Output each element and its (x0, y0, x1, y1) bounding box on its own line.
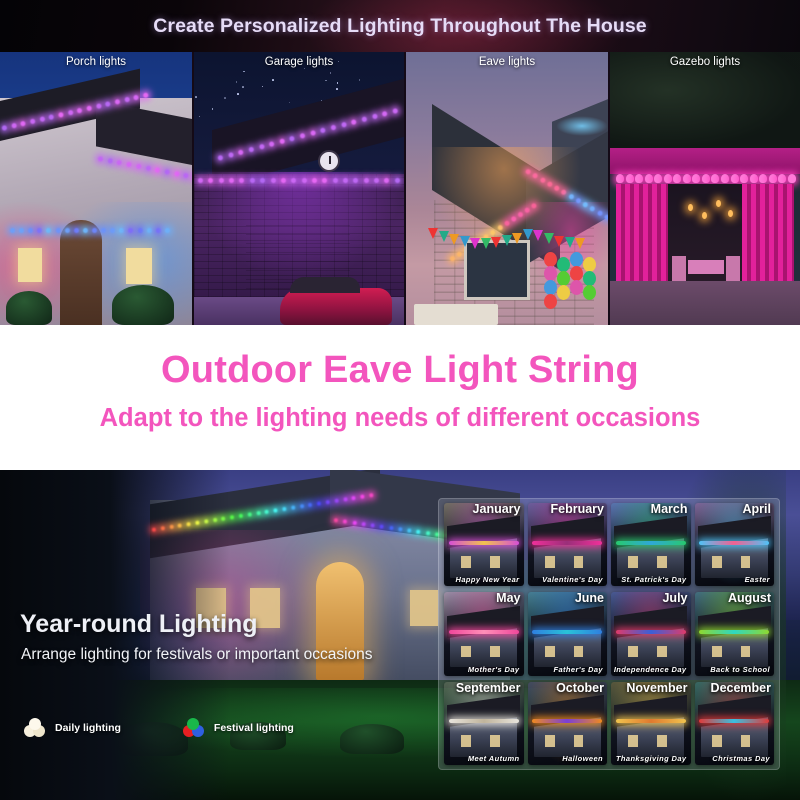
pendant-bulb (716, 200, 721, 207)
legend-label: Daily lighting (55, 722, 121, 734)
calendar-month-label: April (743, 503, 771, 516)
led-strip-eave (198, 178, 400, 183)
panel-label-garage-lights: Garage lights (194, 56, 404, 68)
mini-window (461, 556, 471, 568)
patio-table (688, 260, 724, 274)
three-circles-warm-white-icon (24, 718, 46, 738)
panel-label-gazebo-lights: Gazebo lights (610, 56, 800, 68)
mini-window (741, 735, 751, 747)
mini-window (461, 735, 471, 747)
mini-window (461, 646, 471, 658)
header-banner: Create Personalized Lighting Throughout … (0, 0, 800, 52)
mini-window (628, 735, 638, 747)
patio-table (414, 304, 498, 325)
calendar-holiday-label: Mother's Day (468, 665, 520, 674)
hero-subheadline: Arrange lighting for festivals or import… (21, 646, 373, 664)
calendar-cell-october[interactable]: OctoberHalloween (528, 682, 608, 765)
legend-item-daily-lighting: Daily lighting (24, 718, 121, 738)
calendar-holiday-label: Valentine's Day (542, 575, 603, 584)
mini-house-led-strip (532, 719, 602, 723)
pendant-bulb (728, 210, 733, 217)
calendar-month-label: June (575, 592, 604, 605)
mini-window (545, 735, 555, 747)
calendar-holiday-label: Happy New Year (456, 575, 520, 584)
mini-window (741, 646, 751, 658)
mini-window (657, 735, 667, 747)
led-strip-gazebo (616, 174, 796, 184)
mini-window (574, 556, 584, 568)
lighting-mode-legend: Daily lighting Festival lighting (24, 718, 294, 738)
calendar-cell-february[interactable]: FebruaryValentine's Day (528, 503, 608, 586)
chair (726, 256, 740, 282)
product-title-block: Outdoor Eave Light String Adapt to the l… (0, 325, 800, 470)
scene-panel-garage-lights: Garage lights (192, 52, 404, 325)
mini-window (574, 735, 584, 747)
calendar-cell-september[interactable]: SeptemberMeet Autumn (444, 682, 524, 765)
calendar-holiday-label: Easter (745, 575, 770, 584)
calendar-holiday-label: Father's Day (553, 665, 603, 674)
product-tagline: Adapt to the lighting needs of different… (0, 404, 800, 433)
mini-house-led-strip (699, 719, 769, 723)
calendar-month-label: July (662, 592, 687, 605)
car (280, 288, 392, 325)
calendar-month-label: November (626, 682, 687, 695)
mini-house-led-strip (616, 541, 686, 545)
calendar-cell-may[interactable]: MayMother's Day (444, 592, 524, 675)
calendar-month-label: August (728, 592, 771, 605)
product-name: Outdoor Eave Light String (0, 349, 800, 392)
calendar-month-label: September (456, 682, 521, 695)
scene-panel-eave-lights: Eave lights (404, 52, 608, 325)
calendar-month-label: October (556, 682, 604, 695)
scene-panel-strip: Porch lights Garage lights (0, 52, 800, 325)
calendar-cell-april[interactable]: AprilEaster (695, 503, 775, 586)
bunting-flags (428, 228, 588, 250)
window (18, 248, 42, 282)
scene-panel-gazebo-lights: Gazebo lights (608, 52, 800, 325)
calendar-month-label: May (496, 592, 520, 605)
front-door (60, 220, 102, 325)
mini-window (490, 556, 500, 568)
calendar-cell-march[interactable]: MarchSt. Patrick's Day (611, 503, 691, 586)
calendar-cell-june[interactable]: JuneFather's Day (528, 592, 608, 675)
window (126, 248, 152, 284)
calendar-month-label: March (651, 503, 688, 516)
three-circles-rgb-icon (183, 718, 205, 738)
mini-window (712, 646, 722, 658)
balloons (536, 252, 596, 312)
calendar-cell-july[interactable]: JulyIndependence Day (611, 592, 691, 675)
mini-house-led-strip (699, 630, 769, 634)
mini-house-led-strip (616, 630, 686, 634)
mini-window (545, 556, 555, 568)
calendar-cell-december[interactable]: DecemberChristmas Day (695, 682, 775, 765)
mini-window (490, 646, 500, 658)
panel-label-eave-lights: Eave lights (406, 56, 608, 68)
calendar-cell-november[interactable]: NovemberThanksgiving Day (611, 682, 691, 765)
led-strip-lower (10, 228, 170, 233)
mini-window (545, 646, 555, 658)
gazebo-beam (610, 148, 800, 174)
mini-window (657, 646, 667, 658)
shrub (112, 285, 174, 325)
mini-window (712, 556, 722, 568)
chair (672, 256, 686, 282)
calendar-month-label: January (473, 503, 521, 516)
page-title: Create Personalized Lighting Throughout … (0, 15, 800, 38)
calendar-holiday-label: Halloween (562, 754, 603, 763)
calendar-month-label: December (711, 682, 771, 695)
mini-window (712, 735, 722, 747)
mini-house-led-strip (532, 541, 602, 545)
calendar-cell-august[interactable]: AugustBack to School (695, 592, 775, 675)
calendar-month-label: February (551, 503, 605, 516)
calendar-holiday-label: Christmas Day (712, 754, 770, 763)
month-calendar-grid: JanuaryHappy New YearFebruaryValentine's… (444, 503, 774, 765)
bush (340, 724, 404, 754)
mini-house-led-strip (616, 719, 686, 723)
calendar-holiday-label: Meet Autumn (468, 754, 520, 763)
mini-window (628, 556, 638, 568)
mini-house-led-strip (449, 541, 519, 545)
window (410, 590, 438, 626)
calendar-holiday-label: St. Patrick's Day (621, 575, 686, 584)
calendar-cell-january[interactable]: JanuaryHappy New Year (444, 503, 524, 586)
pendant-bulb (688, 204, 693, 211)
pendant-bulb (702, 212, 707, 219)
mini-house-led-strip (449, 719, 519, 723)
dormer-light-glow (556, 116, 608, 136)
mini-window (574, 646, 584, 658)
wall-clock (318, 150, 340, 172)
calendar-holiday-label: Independence Day (614, 665, 687, 674)
hero-headline: Year-round Lighting (20, 610, 258, 639)
legend-label: Festival lighting (214, 722, 294, 734)
panel-label-porch-lights: Porch lights (0, 56, 192, 68)
legend-item-festival-lighting: Festival lighting (183, 718, 294, 738)
calendar-holiday-label: Thanksgiving Day (616, 754, 687, 763)
mini-house-led-strip (449, 630, 519, 634)
mini-house-led-strip (699, 541, 769, 545)
mini-window (628, 646, 638, 658)
product-infographic: Create Personalized Lighting Throughout … (0, 0, 800, 800)
mini-window (657, 556, 667, 568)
mini-window (741, 556, 751, 568)
calendar-holiday-label: Back to School (710, 665, 770, 674)
shrub (6, 291, 52, 325)
scene-panel-porch-lights: Porch lights (0, 52, 192, 325)
mini-window (490, 735, 500, 747)
patio-floor (610, 281, 800, 325)
mini-house-led-strip (532, 630, 602, 634)
